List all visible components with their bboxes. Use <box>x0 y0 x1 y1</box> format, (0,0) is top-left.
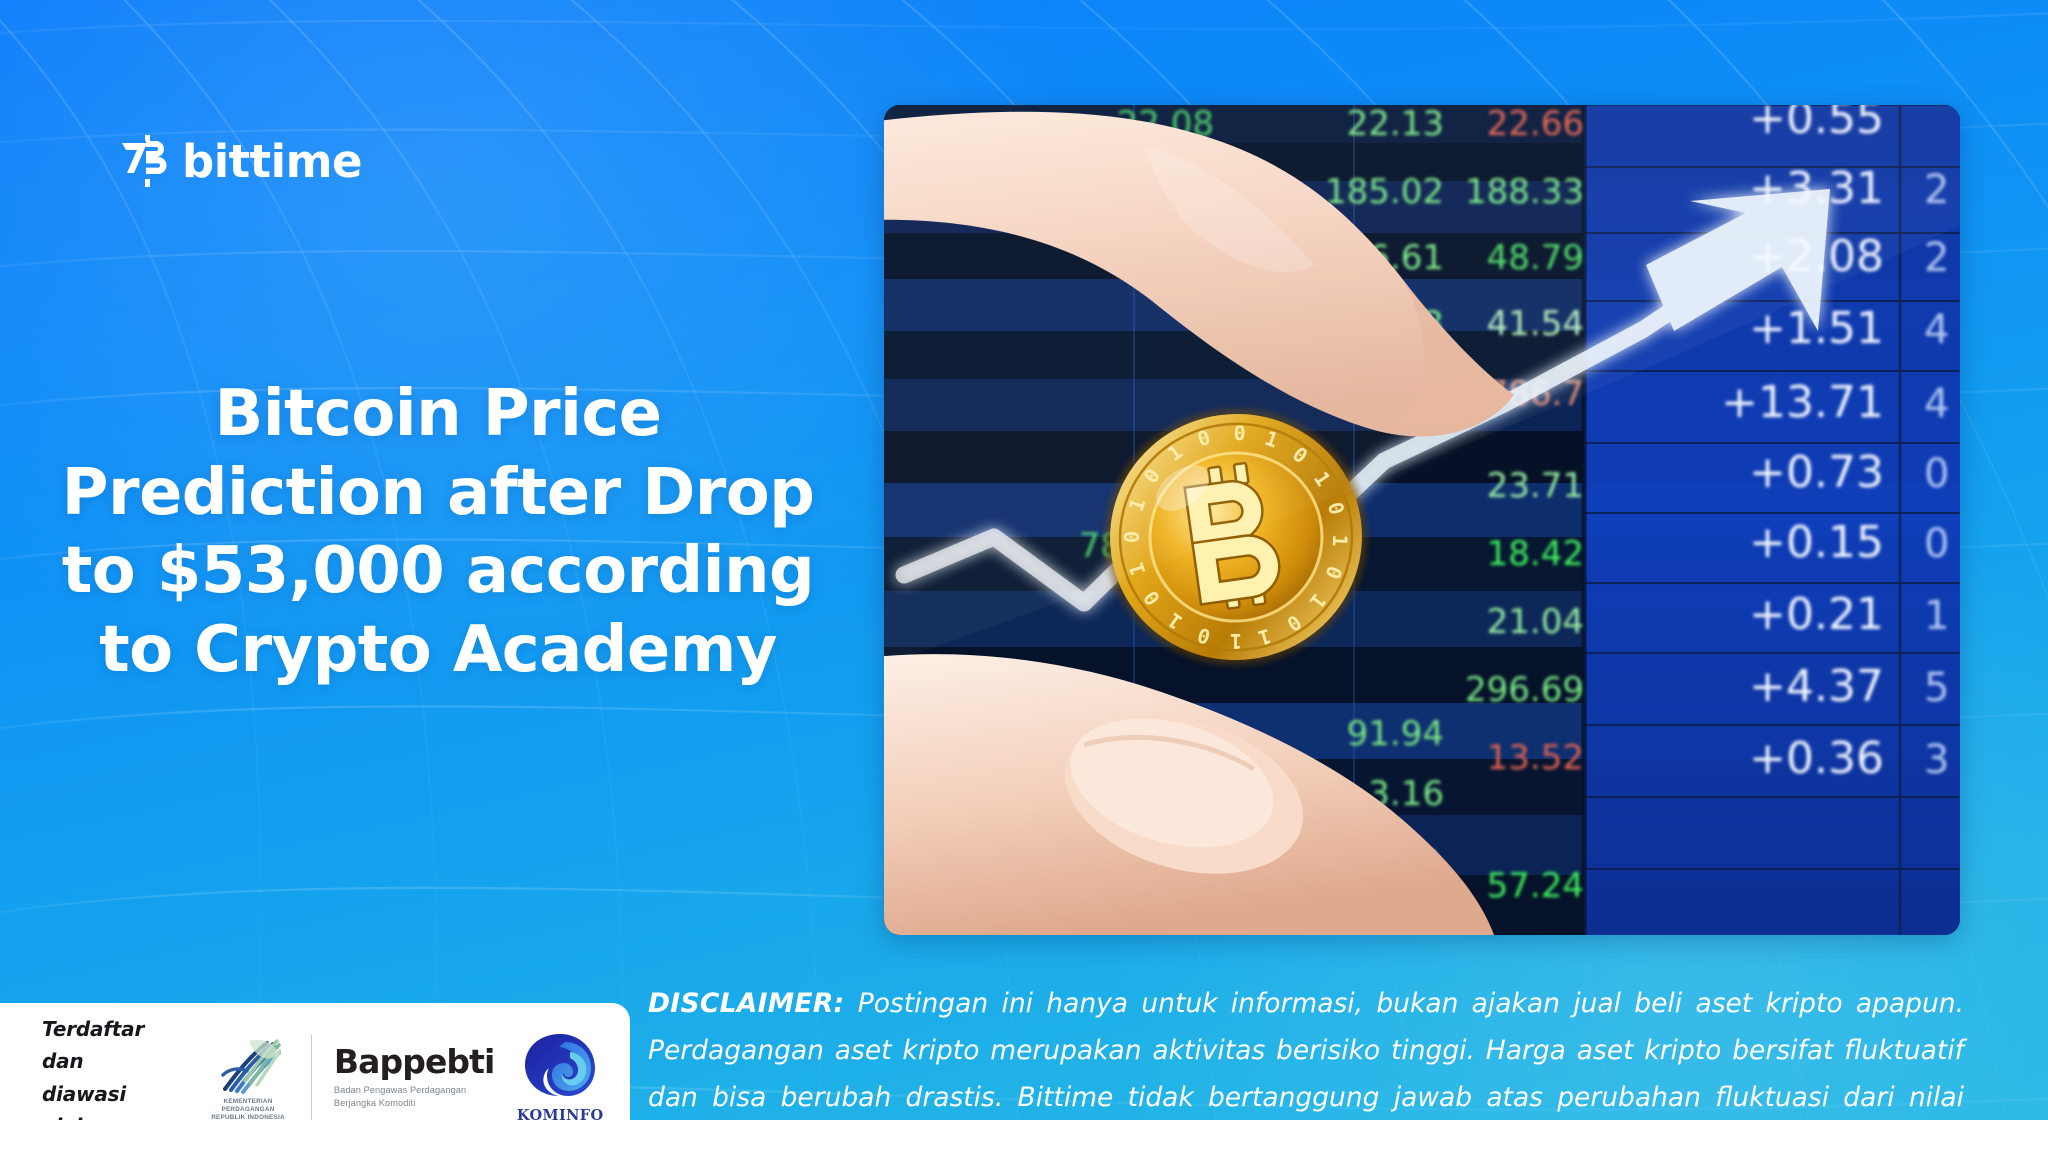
svg-text:+0.36: +0.36 <box>1749 733 1884 784</box>
bittime-logo[interactable]: bittime <box>120 133 362 189</box>
page-title: Bitcoin Price Prediction after Drop to $… <box>58 375 818 690</box>
bappebti-name: Bappebti <box>334 1045 495 1078</box>
svg-text:0: 0 <box>1924 451 1949 497</box>
social-card-canvas: bittime Bitcoin Price Prediction after D… <box>0 0 2048 1152</box>
svg-text:13.52: 13.52 <box>1487 738 1584 778</box>
svg-text:0: 0 <box>1924 521 1949 567</box>
svg-text:57.24: 57.24 <box>1487 866 1584 906</box>
svg-text:296.69: 296.69 <box>1465 670 1584 710</box>
svg-text:1: 1 <box>1924 593 1949 639</box>
svg-text:91.94: 91.94 <box>1347 714 1444 754</box>
bittime-wordmark: bittime <box>182 139 362 184</box>
svg-text:+0.15: +0.15 <box>1749 517 1884 568</box>
disclaimer-label: DISCLAIMER: <box>648 988 844 1019</box>
kemendag-caption: KEMENTERIAN PERDAGANGAN REPUBLIK INDONES… <box>211 1098 285 1123</box>
bappebti-subtitle: Badan Pengawas Perdagangan Berjangka Kom… <box>334 1084 495 1110</box>
bappebti-badge: Bappebti Badan Pengawas Perdagangan Berj… <box>334 1045 495 1110</box>
hero-illustration: 22.08 86.17 78 23.69 22.13 185.02 46.61 … <box>884 105 1960 935</box>
kominfo-badge: KOMINFO <box>516 1032 604 1124</box>
svg-text:4: 4 <box>1924 307 1949 353</box>
svg-text:3: 3 <box>1924 737 1949 783</box>
hero-image: 22.08 86.17 78 23.69 22.13 185.02 46.61 … <box>884 105 1960 935</box>
svg-text:1: 1 <box>1328 534 1352 547</box>
svg-text:+13.71: +13.71 <box>1721 377 1884 428</box>
kominfo-spiral-icon <box>521 1032 599 1106</box>
svg-text:+0.73: +0.73 <box>1749 447 1884 498</box>
svg-text:18.42: 18.42 <box>1487 534 1584 574</box>
kemendag-wheat-icon <box>215 1033 281 1095</box>
kemendag-badge: KEMENTERIAN PERDAGANGAN REPUBLIK INDONES… <box>207 1033 289 1123</box>
svg-text:1: 1 <box>1230 629 1242 653</box>
svg-text:+4.37: +4.37 <box>1749 661 1884 712</box>
svg-text:+0.21: +0.21 <box>1749 589 1884 640</box>
svg-text:23.71: 23.71 <box>1487 466 1584 506</box>
badge-divider <box>311 1035 312 1121</box>
svg-text:21.04: 21.04 <box>1487 602 1584 642</box>
bittime-b-mark-icon <box>120 135 168 187</box>
bottom-white-strip <box>0 1120 2048 1152</box>
svg-text:5: 5 <box>1924 665 1949 711</box>
svg-text:4: 4 <box>1924 381 1949 427</box>
svg-text:2: 2 <box>1924 235 1949 281</box>
